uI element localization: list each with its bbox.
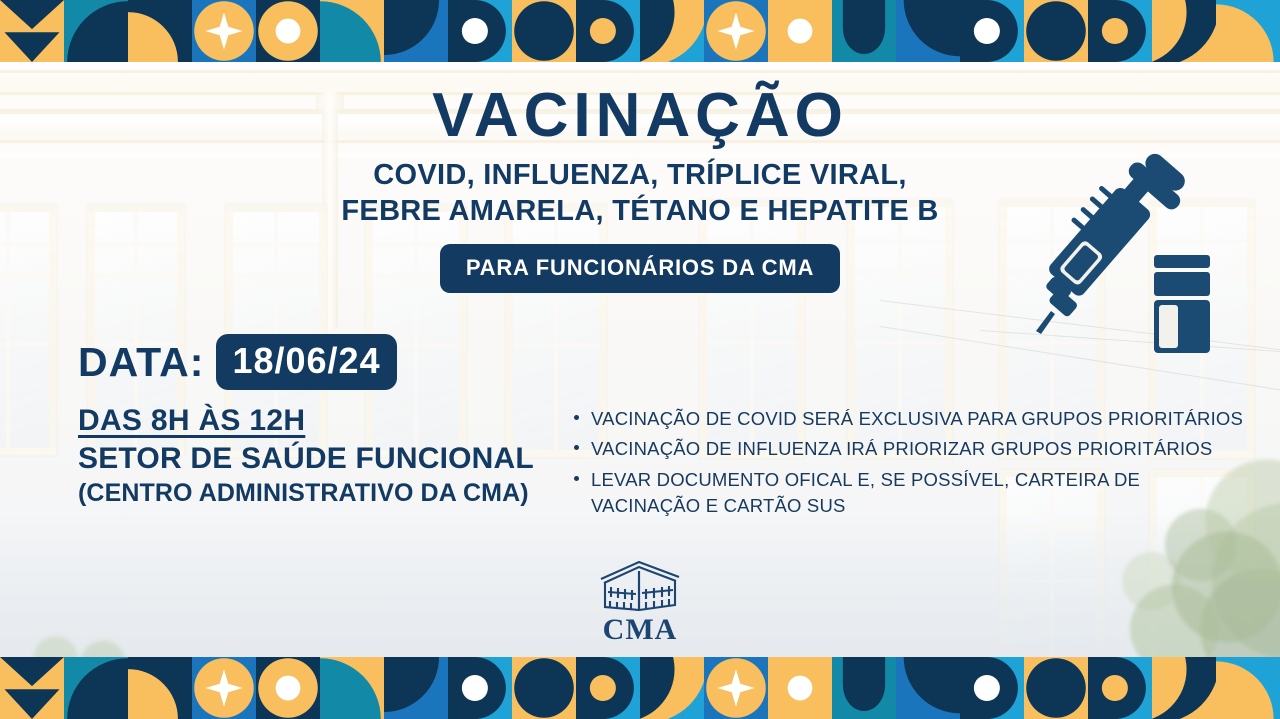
note-item: VACINAÇÃO DE INFLUENZA IRÁ PRIORIZAR GRU… xyxy=(572,436,1252,462)
vaccine-vial-icon xyxy=(1146,255,1218,358)
vaccination-poster: VACINAÇÃO COVID, INFLUENZA, TRÍPLICE VIR… xyxy=(0,0,1280,719)
hours-text: DAS 8H ÀS 12H xyxy=(78,404,534,438)
location-note-text: (CENTRO ADMINISTRATIVO DA CMA) xyxy=(78,479,534,508)
date-label: DATA: xyxy=(78,339,204,386)
note-item: LEVAR DOCUMENTO OFICAL E, SE POSSÍVEL, C… xyxy=(572,467,1252,520)
logo-text: CMA xyxy=(0,613,1280,647)
cma-logo: CMA xyxy=(0,559,1280,647)
audience-badge: PARA FUNCIONÁRIOS DA CMA xyxy=(440,244,840,293)
event-details: DATA: 18/06/24 DAS 8H ÀS 12H SETOR DE SA… xyxy=(78,334,534,508)
date-row: DATA: 18/06/24 xyxy=(78,334,534,390)
date-value-pill: 18/06/24 xyxy=(216,334,396,390)
note-item: VACINAÇÃO DE COVID SERÁ EXCLUSIVA PARA G… xyxy=(572,406,1252,432)
location-text: SETOR DE SAÚDE FUNCIONAL xyxy=(78,442,534,476)
page-title: VACINAÇÃO xyxy=(0,84,1280,147)
cma-building-icon xyxy=(597,559,683,611)
notes-list: VACINAÇÃO DE COVID SERÁ EXCLUSIVA PARA G… xyxy=(572,406,1252,523)
